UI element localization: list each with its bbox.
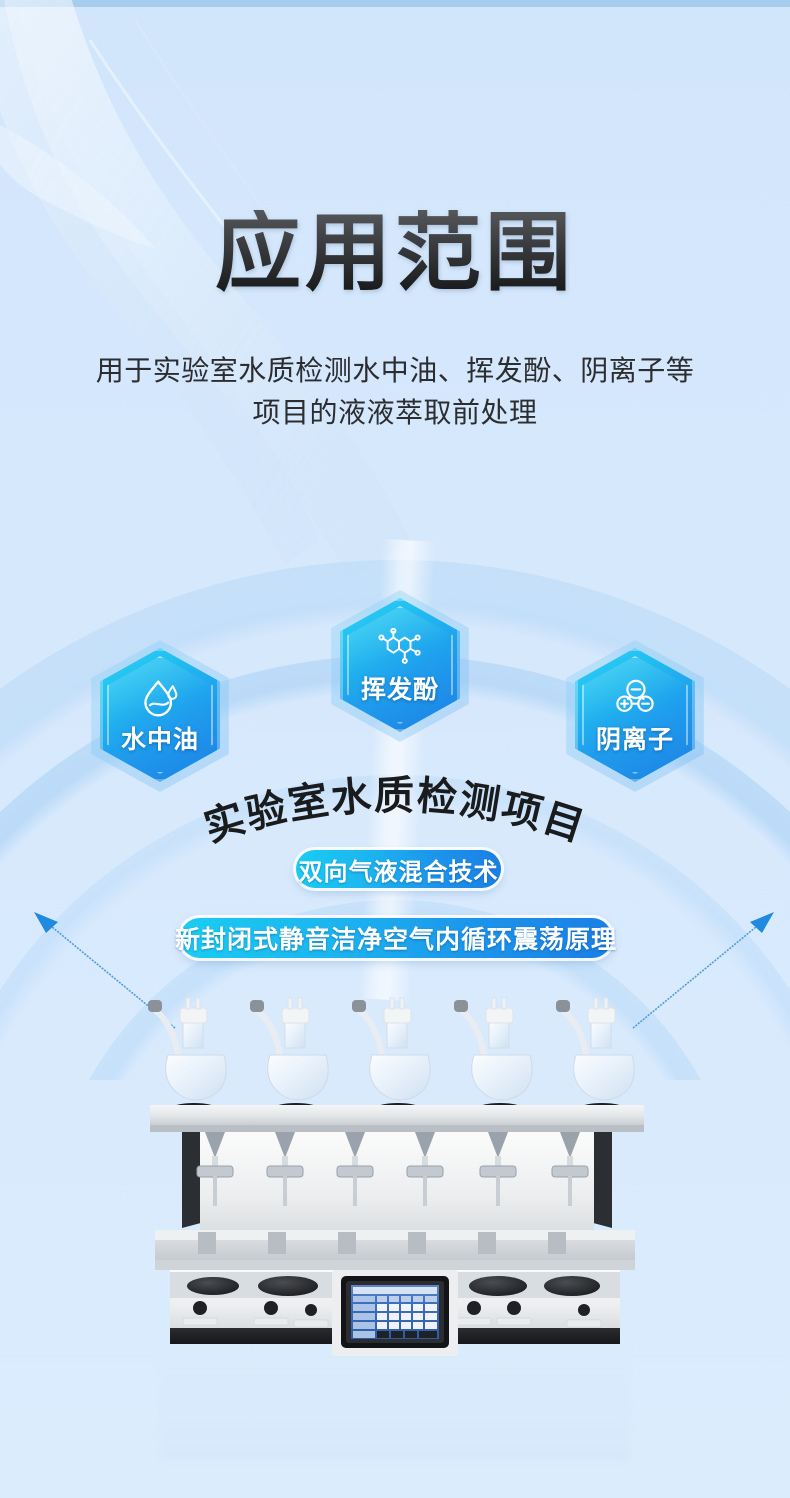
flask	[250, 998, 328, 1113]
subtitle-line-2: 项目的液液萃取前处理	[0, 392, 790, 434]
hotplate	[258, 1276, 318, 1296]
tag-bidirectional-mixing[interactable]: 双向气液混合技术	[296, 850, 501, 888]
subtitle-line-1: 用于实验室水质检测水中油、挥发酚、阴离子等	[96, 355, 695, 386]
product-photo-liquid-extractor	[0, 960, 790, 1420]
top-accent-strip	[0, 0, 790, 7]
knob	[305, 1304, 317, 1316]
touchscreen-module[interactable]	[332, 1270, 458, 1356]
tag-closed-silent-air-circulation[interactable]: 新封闭式静音洁净空气内循环震荡原理	[180, 918, 612, 958]
middle-tray	[155, 1230, 635, 1270]
water-splash-graphic	[0, 0, 500, 620]
page-subtitle: 用于实验室水质检测水中油、挥发酚、阴离子等 项目的液液萃取前处理	[0, 350, 790, 434]
badge-volatile-phenol[interactable]: 挥发酚	[340, 598, 460, 732]
knob	[507, 1301, 521, 1315]
knob	[193, 1301, 207, 1315]
knob	[578, 1304, 590, 1316]
promo-page: 应用范围 用于实验室水质检测水中油、挥发酚、阴离子等 项目的液液萃取前处理 水中…	[0, 0, 790, 1498]
valve-section	[182, 1132, 612, 1237]
flask-group	[148, 998, 634, 1113]
badge-label: 水中油	[121, 720, 199, 756]
flask	[148, 998, 226, 1113]
curved-headline-textpath: 实验室水质检测项目	[199, 774, 591, 850]
badge-anion[interactable]: 阴离子	[575, 648, 695, 782]
flask	[352, 998, 430, 1113]
hotplate	[544, 1276, 600, 1296]
flask	[454, 998, 532, 1113]
water-drop-icon	[137, 678, 183, 718]
hotplate	[187, 1277, 239, 1295]
badge-label: 阴离子	[596, 720, 674, 756]
knob	[467, 1301, 481, 1315]
upper-shelf	[150, 1105, 644, 1132]
badge-water-in-oil[interactable]: 水中油	[100, 648, 220, 782]
page-title: 应用范围	[0, 210, 790, 296]
hotplate	[469, 1276, 527, 1296]
ion-charge-icon	[612, 678, 658, 718]
molecule-icon	[374, 628, 426, 668]
badge-label: 挥发酚	[361, 670, 439, 706]
curved-headline-text: 实验室水质检测项目	[199, 774, 591, 850]
knob	[264, 1301, 278, 1315]
flask	[556, 998, 634, 1113]
